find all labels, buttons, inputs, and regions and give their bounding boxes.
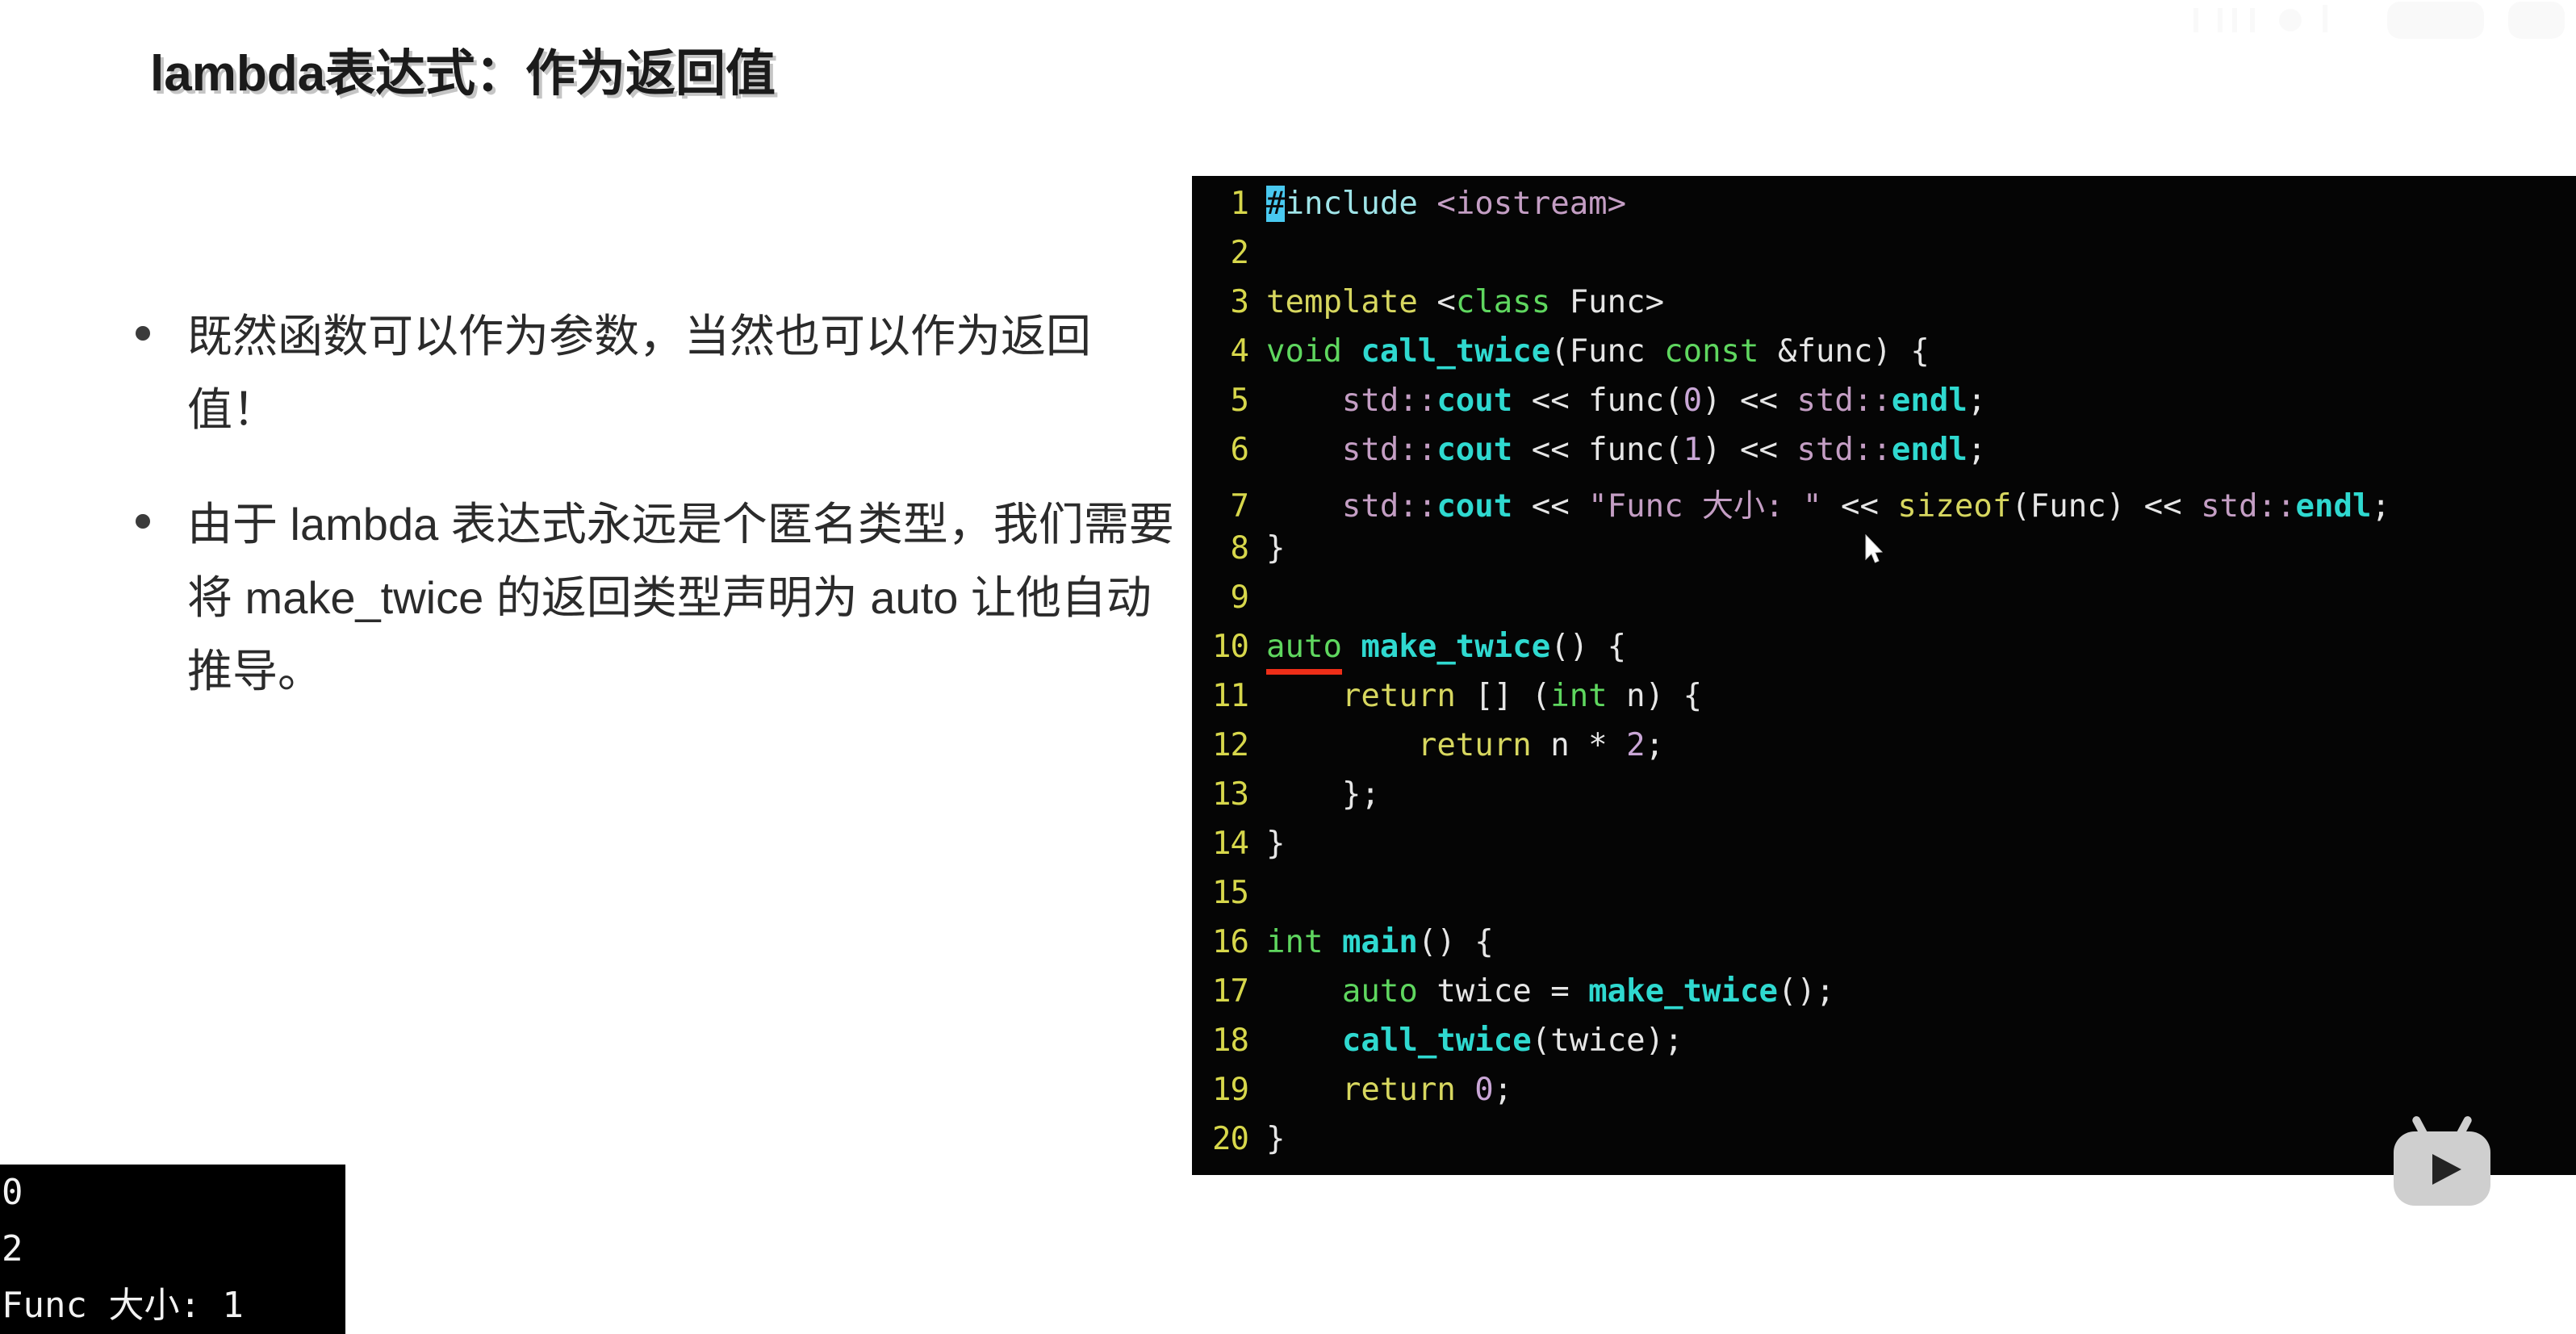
token-class: class bbox=[1456, 284, 1550, 320]
presentation-slide: lambda表达式：作为返回值 既然函数可以作为参数，当然也可以作为返回值！ 由… bbox=[0, 0, 2576, 1334]
token-number: 0 bbox=[1474, 1072, 1493, 1108]
token-params: n) { bbox=[1608, 678, 1702, 714]
token-return: return bbox=[1418, 727, 1532, 763]
code-line: 20 } bbox=[1192, 1121, 2576, 1170]
code-line-content: auto make_twice() { bbox=[1266, 629, 1626, 665]
token-space bbox=[1342, 629, 1361, 665]
code-line-content: auto twice = make_twice(); bbox=[1266, 973, 1834, 1010]
code-line: 8 } bbox=[1192, 530, 2576, 579]
code-line-content: std::cout << "Func 大小: " << sizeof(Func)… bbox=[1266, 481, 2390, 526]
line-number: 20 bbox=[1192, 1121, 1266, 1157]
bilibili-watermark-top bbox=[2185, 2, 2565, 54]
token-function-name: make_twice bbox=[1361, 629, 1550, 665]
token-namespace: std:: bbox=[1342, 383, 1436, 419]
bullet-text: 既然函数可以作为参数，当然也可以作为返回值！ bbox=[187, 300, 1177, 446]
token-indent bbox=[1266, 488, 1342, 525]
code-line: 17 auto twice = make_twice(); bbox=[1192, 973, 2576, 1022]
code-line: 1 #include <iostream> bbox=[1192, 186, 2576, 235]
code-line: 18 call_twice(twice); bbox=[1192, 1022, 2576, 1072]
token-auto-error: auto bbox=[1266, 629, 1342, 665]
token-space bbox=[1456, 1072, 1474, 1108]
token-number: 2 bbox=[1626, 727, 1645, 763]
code-line: 12 return n * 2; bbox=[1192, 727, 2576, 776]
token-call-args: (twice); bbox=[1532, 1022, 1683, 1059]
token-endl: endl bbox=[1892, 432, 1968, 468]
token-indent bbox=[1266, 1072, 1342, 1108]
code-line-content: } bbox=[1266, 530, 1285, 567]
token-stream-op: << func( bbox=[1512, 432, 1683, 468]
page-title: lambda表达式：作为返回值 bbox=[150, 32, 776, 105]
token-void: void bbox=[1266, 333, 1342, 370]
terminal-line: 0 bbox=[2, 1165, 345, 1221]
code-line-content: #include <iostream> bbox=[1266, 186, 1626, 222]
code-line: 10 auto make_twice() { bbox=[1192, 629, 2576, 678]
token-indent bbox=[1266, 1022, 1342, 1059]
line-number: 19 bbox=[1192, 1072, 1266, 1108]
code-line: 13 }; bbox=[1192, 776, 2576, 826]
token-namespace: std:: bbox=[1796, 383, 1891, 419]
token-indent bbox=[1266, 432, 1342, 468]
token-auto: auto bbox=[1342, 973, 1418, 1010]
token-function-name: make_twice bbox=[1588, 973, 1778, 1010]
token-cout: cout bbox=[1436, 383, 1512, 419]
token-namespace: std:: bbox=[2201, 488, 2295, 525]
line-number: 17 bbox=[1192, 973, 1266, 1010]
token-int: int bbox=[1266, 924, 1323, 960]
code-line-content: return n * 2; bbox=[1266, 727, 1664, 763]
code-line: 6 std::cout << func(1) << std::endl; bbox=[1192, 432, 2576, 481]
list-item: 由于 lambda 表达式永远是个匿名类型，我们需要将 make_twice 的… bbox=[136, 488, 1177, 708]
token-indent bbox=[1266, 678, 1342, 714]
token-type-param: Func> bbox=[1550, 284, 1664, 320]
token-semicolon: ; bbox=[2371, 488, 2390, 525]
code-line-content: }; bbox=[1266, 776, 1380, 813]
token-semicolon: ; bbox=[1646, 727, 1664, 763]
code-line: 16 int main() { bbox=[1192, 924, 2576, 973]
token-space bbox=[1342, 333, 1361, 370]
token-return: return bbox=[1342, 678, 1456, 714]
code-line: 11 return [] (int n) { bbox=[1192, 678, 2576, 727]
code-line-content: int main() { bbox=[1266, 924, 1494, 960]
code-line: 15 bbox=[1192, 875, 2576, 924]
code-line-content: return 0; bbox=[1266, 1072, 1512, 1108]
line-number: 14 bbox=[1192, 826, 1266, 862]
code-line: 7 std::cout << "Func 大小: " << sizeof(Fun… bbox=[1192, 481, 2576, 530]
line-number: 1 bbox=[1192, 186, 1266, 222]
editor-cursor-highlight: # bbox=[1266, 186, 1285, 222]
token-lambda-capture: [] ( bbox=[1456, 678, 1550, 714]
token-semicolon: ; bbox=[1968, 432, 1986, 468]
line-number: 6 bbox=[1192, 432, 1266, 468]
line-number: 10 bbox=[1192, 629, 1266, 665]
code-line: 5 std::cout << func(0) << std::endl; bbox=[1192, 383, 2576, 432]
token-stream-op2: << bbox=[1822, 488, 1898, 525]
line-number: 13 bbox=[1192, 776, 1266, 813]
bullet-list: 既然函数可以作为参数，当然也可以作为返回值！ 由于 lambda 表达式永远是个… bbox=[136, 300, 1177, 751]
token-indent bbox=[1266, 973, 1342, 1010]
token-function-name: main bbox=[1342, 924, 1418, 960]
token-assign: twice = bbox=[1418, 973, 1588, 1010]
token-stream-op2: ) << bbox=[1702, 432, 1796, 468]
code-editor-panel[interactable]: 1 #include <iostream> 2 3 template <clas… bbox=[1192, 176, 2576, 1175]
line-number: 15 bbox=[1192, 875, 1266, 911]
code-line: 9 bbox=[1192, 579, 2576, 629]
token-number: 1 bbox=[1683, 432, 1702, 468]
line-number: 3 bbox=[1192, 284, 1266, 320]
code-line-content: call_twice(twice); bbox=[1266, 1022, 1683, 1059]
token-header-name: <iostream> bbox=[1418, 186, 1626, 222]
token-punct: () { bbox=[1550, 629, 1626, 665]
line-number: 12 bbox=[1192, 727, 1266, 763]
token-stream-op2: ) << bbox=[1702, 383, 1796, 419]
token-cout: cout bbox=[1436, 488, 1512, 525]
token-include-directive: include bbox=[1285, 186, 1417, 222]
token-namespace: std:: bbox=[1796, 432, 1891, 468]
terminal-line: 2 bbox=[2, 1221, 345, 1278]
code-line: 14 } bbox=[1192, 826, 2576, 875]
token-return: return bbox=[1342, 1072, 1456, 1108]
token-indent bbox=[1266, 383, 1342, 419]
token-function-name: call_twice bbox=[1361, 333, 1550, 370]
bullet-text: 由于 lambda 表达式永远是个匿名类型，我们需要将 make_twice 的… bbox=[187, 488, 1177, 708]
code-line: 2 bbox=[1192, 235, 2576, 284]
token-function-name: call_twice bbox=[1342, 1022, 1532, 1059]
code-line-content: std::cout << func(1) << std::endl; bbox=[1266, 432, 1986, 468]
code-line-content: return [] (int n) { bbox=[1266, 678, 1702, 714]
line-number: 4 bbox=[1192, 333, 1266, 370]
bullet-dot-icon bbox=[136, 326, 150, 341]
code-line-content: } bbox=[1266, 826, 1285, 862]
bullet-dot-icon bbox=[136, 514, 150, 529]
token-template: template bbox=[1266, 284, 1418, 320]
line-number: 16 bbox=[1192, 924, 1266, 960]
line-number: 9 bbox=[1192, 579, 1266, 616]
token-punct: < bbox=[1418, 284, 1456, 320]
token-stream-op: << bbox=[1512, 488, 1588, 525]
list-item: 既然函数可以作为参数，当然也可以作为返回值！ bbox=[136, 300, 1177, 446]
token-call-tail: (); bbox=[1778, 973, 1834, 1010]
code-line: 19 return 0; bbox=[1192, 1072, 2576, 1121]
token-indent bbox=[1266, 727, 1418, 763]
code-line-content: void call_twice(Func const &func) { bbox=[1266, 333, 1930, 370]
token-punct: () { bbox=[1418, 924, 1494, 960]
token-cout: cout bbox=[1436, 432, 1512, 468]
code-line-content: } bbox=[1266, 1121, 1285, 1157]
token-namespace: std:: bbox=[1342, 432, 1436, 468]
token-const: const bbox=[1664, 333, 1758, 370]
line-number: 18 bbox=[1192, 1022, 1266, 1059]
line-number: 11 bbox=[1192, 678, 1266, 714]
token-params-tail: &func) { bbox=[1759, 333, 1930, 370]
code-line-content: std::cout << func(0) << std::endl; bbox=[1266, 383, 1986, 419]
token-semicolon: ; bbox=[1968, 383, 1986, 419]
token-sizeof: sizeof bbox=[1897, 488, 2011, 525]
token-int: int bbox=[1550, 678, 1607, 714]
terminal-output-panel[interactable]: 0 2 Func 大小: 1 bbox=[0, 1165, 345, 1334]
code-line: 3 template <class Func> bbox=[1192, 284, 2576, 333]
line-number: 5 bbox=[1192, 383, 1266, 419]
token-expr: n * bbox=[1532, 727, 1626, 763]
token-params: (Func bbox=[1550, 333, 1664, 370]
token-string-literal: "Func 大小: " bbox=[1588, 488, 1821, 525]
token-stream-op3: (Func) << bbox=[2011, 488, 2201, 525]
line-number: 2 bbox=[1192, 235, 1266, 271]
line-number: 8 bbox=[1192, 530, 1266, 567]
token-number: 0 bbox=[1683, 383, 1702, 419]
token-namespace: std:: bbox=[1342, 488, 1436, 525]
token-stream-op: << func( bbox=[1512, 383, 1683, 419]
code-line-content: template <class Func> bbox=[1266, 284, 1664, 320]
token-semicolon: ; bbox=[1494, 1072, 1512, 1108]
terminal-line: Func 大小: 1 bbox=[2, 1278, 345, 1334]
token-space bbox=[1323, 924, 1341, 960]
line-number: 7 bbox=[1192, 488, 1266, 525]
token-endl: endl bbox=[2296, 488, 2372, 525]
code-line: 4 void call_twice(Func const &func) { bbox=[1192, 333, 2576, 383]
token-endl: endl bbox=[1892, 383, 1968, 419]
